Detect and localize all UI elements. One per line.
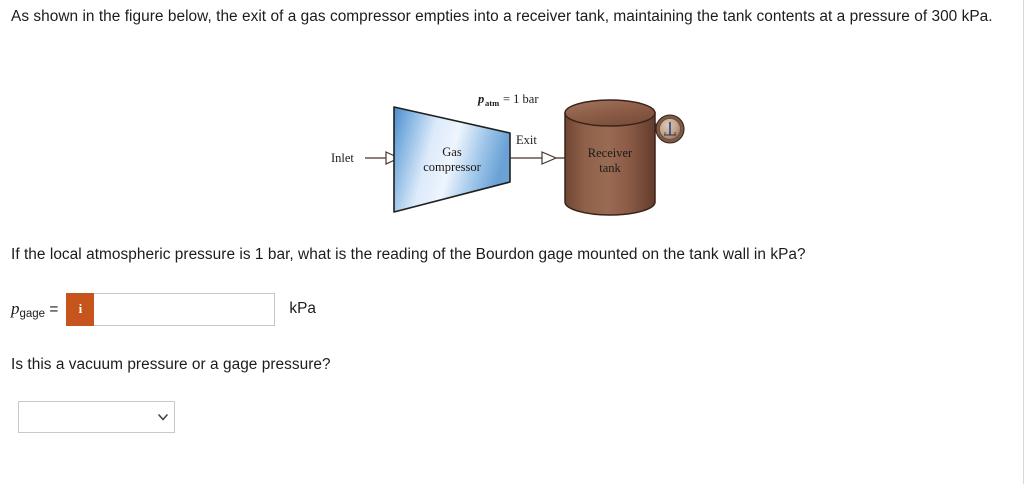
equals-sign: = <box>49 301 58 318</box>
svg-text:= 1 bar: = 1 bar <box>503 92 539 106</box>
atm-pressure-label: p atm = 1 bar <box>477 92 539 108</box>
followup-paragraph: Is this a vacuum pressure or a gage pres… <box>11 353 711 376</box>
svg-text:Inlet: Inlet <box>331 151 354 165</box>
exit-flow-arrow: Exit <box>510 133 566 164</box>
receiver-tank-shape: Receiver tank <box>565 100 655 215</box>
svg-text:atm: atm <box>485 98 499 108</box>
intro-paragraph: As shown in the figure below, the exit o… <box>11 5 1001 28</box>
answer-input-group: i <box>66 293 275 326</box>
answer-entry-row: pgage = i kPa <box>11 291 316 327</box>
tank-label-line1: Receiver <box>588 146 633 160</box>
pgage-symbol: p <box>11 299 20 318</box>
compressor-label-line2: compressor <box>423 160 481 174</box>
bourdon-gauge-icon <box>656 115 684 143</box>
pressure-type-select[interactable]: vacuum pressuregage pressure <box>18 401 175 433</box>
pgage-answer-input[interactable] <box>94 293 275 326</box>
svg-text:p: p <box>477 92 484 106</box>
pgage-subscript: gage <box>20 308 46 320</box>
gas-compressor-shape: Gas compressor <box>394 107 510 212</box>
compressor-label-line1: Gas <box>442 145 462 159</box>
info-icon-button[interactable]: i <box>66 293 94 326</box>
unit-label: kPa <box>289 300 316 318</box>
inlet-flow-arrow: Inlet <box>331 151 399 165</box>
pgage-label: pgage = <box>11 299 58 320</box>
question-page: As shown in the figure below, the exit o… <box>0 0 1024 484</box>
question-paragraph: If the local atmospheric pressure is 1 b… <box>11 243 971 266</box>
svg-text:Exit: Exit <box>516 133 537 147</box>
compressor-tank-figure: p atm = 1 bar Inlet Gas compressor Exit <box>320 80 700 225</box>
tank-label-line2: tank <box>599 161 621 175</box>
